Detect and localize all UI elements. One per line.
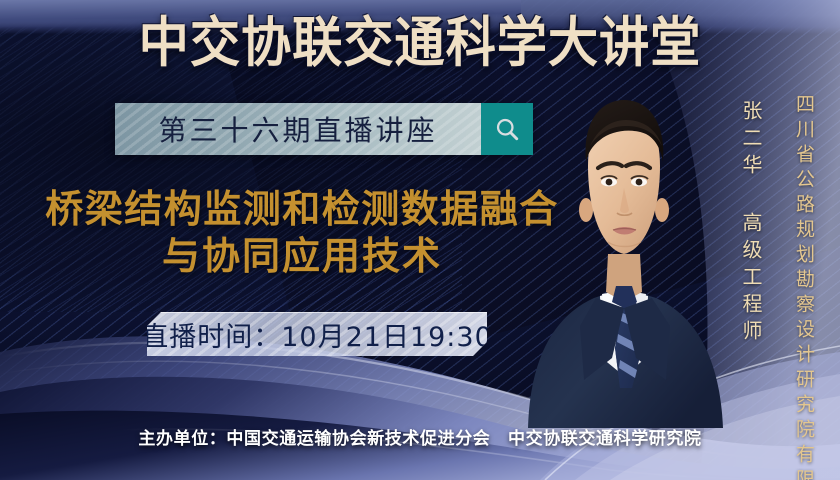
live-lecture-poster: 中交协联交通科学大讲堂 第三十六期直播讲座 桥梁结构监测和检测数据融合 与协同应…: [0, 0, 840, 480]
speaker-company: 四川省公路规划勘察设计研究院有限公司: [791, 94, 818, 480]
episode-label: 第三十六期直播讲座: [158, 109, 437, 149]
speaker-name-and-title: 张二华 高级工程师: [737, 100, 766, 347]
search-icon: [494, 116, 521, 143]
broadcast-time-badge: 直播时间：10月21日19:30: [147, 312, 487, 356]
episode-banner-body: 第三十六期直播讲座: [115, 103, 481, 155]
lecture-topic: 桥梁结构监测和检测数据融合 与协同应用技术: [22, 186, 582, 280]
episode-banner: 第三十六期直播讲座: [115, 103, 533, 155]
broadcast-time-text: 直播时间：10月21日19:30: [147, 315, 487, 354]
lecture-topic-line1: 桥梁结构监测和检测数据融合: [22, 186, 582, 233]
organizers-footer: 主办单位：中国交通运输协会新技术促进分会 中交协联交通科学研究院: [0, 424, 840, 449]
speaker-portrait: [520, 58, 738, 428]
lecture-topic-line2: 与协同应用技术: [22, 233, 582, 280]
